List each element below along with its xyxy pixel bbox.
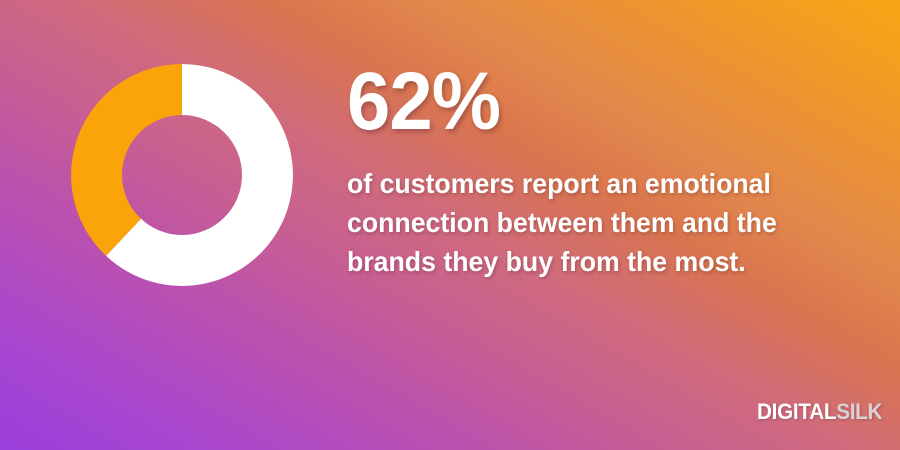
logo-secondary-text: SILK	[836, 399, 882, 424]
logo-primary-text: DIGITAL	[757, 399, 836, 424]
stat-body-line-1: of customers report an emotional	[347, 164, 851, 203]
stat-figure: 62%	[347, 62, 841, 142]
infographic-canvas: 62% of customers report an emotional con…	[0, 0, 900, 450]
stat-body: of customers report an emotional connect…	[347, 164, 851, 281]
digitalsilk-logo: DIGITALSILK	[757, 401, 882, 423]
donut-chart	[71, 64, 293, 286]
stat-text-block: 62% of customers report an emotional con…	[347, 62, 867, 282]
donut-chart-svg	[71, 64, 293, 286]
stat-body-line-2: connection between them and the	[347, 203, 851, 242]
stat-body-line-3: brands they buy from the most.	[347, 242, 851, 281]
